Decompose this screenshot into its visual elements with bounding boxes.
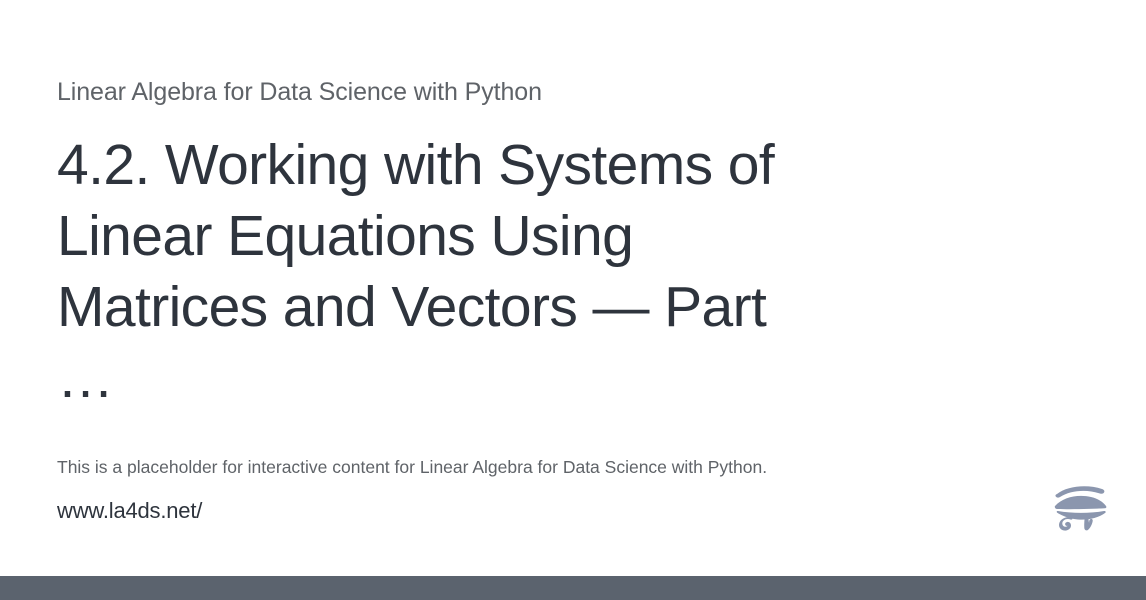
page-title-truncation-ellipsis: … [57, 343, 917, 414]
page-title-line-2: Linear Equations Using [57, 201, 917, 272]
bottom-accent-bar [0, 576, 1146, 600]
page-title-line-3: Matrices and Vectors — Part [57, 272, 917, 343]
card-content: Linear Algebra for Data Science with Pyt… [57, 0, 1077, 576]
placeholder-description: This is a placeholder for interactive co… [57, 454, 767, 480]
page-title-line-1: 4.2. Working with Systems of [57, 130, 917, 201]
site-name-breadcrumb: Linear Algebra for Data Science with Pyt… [57, 74, 542, 110]
link-preview-card[interactable]: Linear Algebra for Data Science with Pyt… [0, 0, 1146, 600]
page-title: 4.2. Working with Systems of Linear Equa… [57, 130, 917, 414]
eye-of-horus-logo [1050, 484, 1112, 532]
site-url-link[interactable]: www.la4ds.net/ [57, 495, 202, 526]
